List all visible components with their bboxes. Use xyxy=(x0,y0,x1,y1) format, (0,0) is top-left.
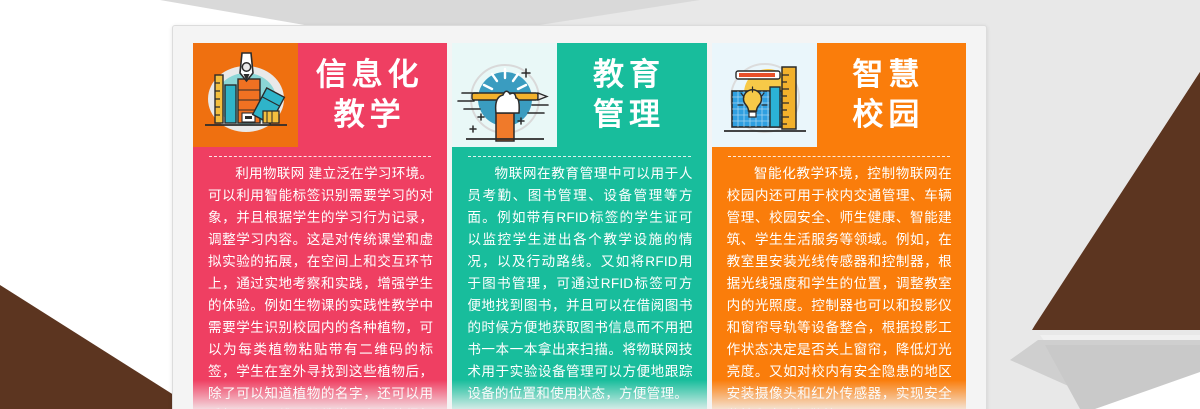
panel-body-text: 利用物联网 建立泛在学习环境。可以利用智能标签识别需要学习的对象，并且根据学生的… xyxy=(193,161,447,409)
panel-row: 信息化 教学 利用物联网 建立泛在学习环境。可以利用智能标签识别需要学习的对象，… xyxy=(193,43,966,409)
panel-title-line-2: 管理 xyxy=(593,95,665,135)
title-divider xyxy=(468,156,690,157)
hand-pencil-idea-icon xyxy=(452,43,557,147)
title-divider xyxy=(209,156,431,157)
panel-title-line-1: 智慧 xyxy=(852,55,924,95)
panel-education-management[interactable]: 教育 管理 物联网在教育管理中可以用于人员考勤、图书管理、设备管理等方面。例如带… xyxy=(452,43,706,409)
title-divider xyxy=(728,156,950,157)
panel-informatized-teaching[interactable]: 信息化 教学 利用物联网 建立泛在学习环境。可以利用智能标签识别需要学习的对象，… xyxy=(193,43,447,409)
panel-title: 教育 管理 xyxy=(557,43,706,147)
slide-card: 信息化 教学 利用物联网 建立泛在学习环境。可以利用智能标签识别需要学习的对象，… xyxy=(172,25,987,409)
panel-header: 智慧 校园 xyxy=(712,43,966,147)
panel-header: 教育 管理 xyxy=(452,43,706,147)
panel-title-line-2: 教学 xyxy=(334,95,406,135)
panel-header: 信息化 教学 xyxy=(193,43,447,147)
panel-body-text: 智能化教学环境，控制物联网在校园内还可用于校内交通管理、车辆管理、校园安全、师生… xyxy=(712,161,966,409)
panel-title: 智慧 校园 xyxy=(817,43,966,147)
panel-title-line-1: 教育 xyxy=(593,55,665,95)
panel-body-text: 物联网在教育管理中可以用于人员考勤、图书管理、设备管理等方面。例如带有RFID标… xyxy=(452,161,706,409)
pen-books-ruler-icon xyxy=(193,43,298,147)
laptop-bulb-ruler-icon xyxy=(712,43,817,147)
panel-title: 信息化 教学 xyxy=(298,43,447,147)
panel-title-line-1: 信息化 xyxy=(316,55,424,95)
panel-title-line-2: 校园 xyxy=(852,95,924,135)
panel-smart-campus[interactable]: 智慧 校园 智能化教学环境，控制物联网在校园内还可用于校内交通管理、车辆管理、校… xyxy=(712,43,966,409)
